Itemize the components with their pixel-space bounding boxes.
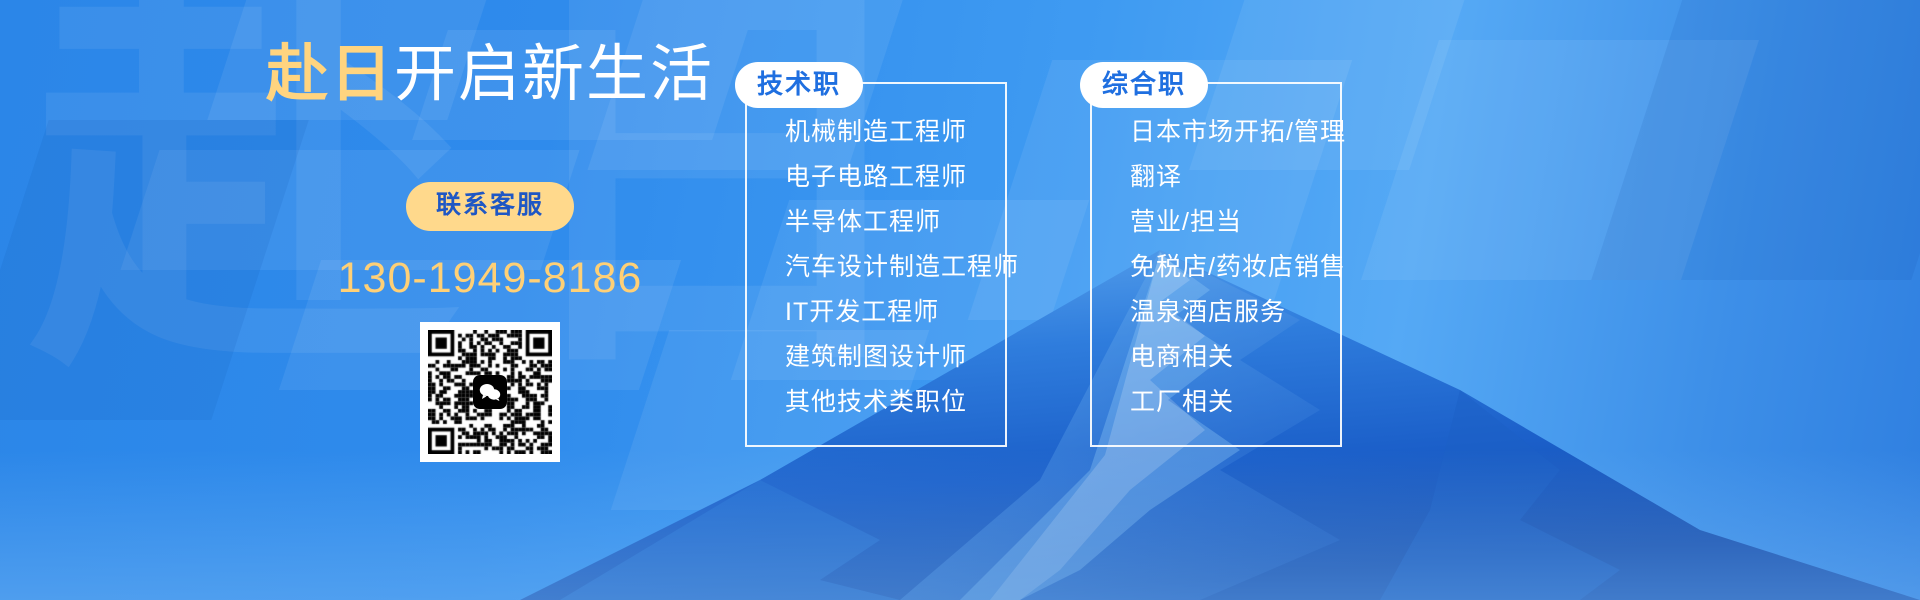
decorative-stripe: [1361, 40, 1759, 280]
list-item[interactable]: IT开发工程师: [785, 300, 977, 345]
page-title: 赴日开启新生活: [225, 36, 755, 114]
wechat-icon: [473, 375, 507, 409]
list-item[interactable]: 日本市场开拓/管理: [1130, 120, 1312, 165]
job-list-technical: 机械制造工程师 电子电路工程师 半导体工程师 汽车设计制造工程师 IT开发工程师…: [785, 120, 977, 415]
list-item[interactable]: 工厂相关: [1130, 390, 1312, 415]
panel-badge-technical: 技术职: [735, 62, 863, 108]
list-item[interactable]: 电商相关: [1130, 345, 1312, 390]
list-item[interactable]: 建筑制图设计师: [785, 345, 977, 390]
phone-number[interactable]: 130-1949-8186: [225, 257, 755, 300]
job-panel-technical: 技术职 机械制造工程师 电子电路工程师 半导体工程师 汽车设计制造工程师 IT开…: [745, 82, 1007, 447]
list-item[interactable]: 半导体工程师: [785, 210, 977, 255]
list-item[interactable]: 翻译: [1130, 165, 1312, 210]
atmospheric-haze: [0, 450, 1920, 600]
headline-plain: 开启新生活: [394, 40, 714, 109]
contact-column: 赴日开启新生活 联系客服 130-1949-8186: [225, 36, 755, 462]
contact-support-button[interactable]: 联系客服: [406, 182, 574, 231]
headline-accent: 赴日: [266, 40, 394, 109]
list-item[interactable]: 免税店/药妆店销售: [1130, 255, 1312, 300]
list-item[interactable]: 温泉酒店服务: [1130, 300, 1312, 345]
list-item[interactable]: 营业/担当: [1130, 210, 1312, 255]
decorative-stripe: [1591, 0, 1920, 280]
list-item[interactable]: 汽车设计制造工程师: [785, 255, 977, 300]
job-list-general: 日本市场开拓/管理 翻译 营业/担当 免税店/药妆店销售 温泉酒店服务 电商相关…: [1130, 120, 1312, 415]
list-item[interactable]: 电子电路工程师: [785, 165, 977, 210]
list-item[interactable]: 其他技术类职位: [785, 390, 977, 415]
list-item[interactable]: 机械制造工程师: [785, 120, 977, 165]
promo-banner: 赴日: [0, 0, 1920, 600]
panel-badge-general: 综合职: [1080, 62, 1208, 108]
wechat-qr-code[interactable]: [420, 322, 560, 462]
job-panel-general: 综合职 日本市场开拓/管理 翻译 营业/担当 免税店/药妆店销售 温泉酒店服务 …: [1090, 82, 1342, 447]
